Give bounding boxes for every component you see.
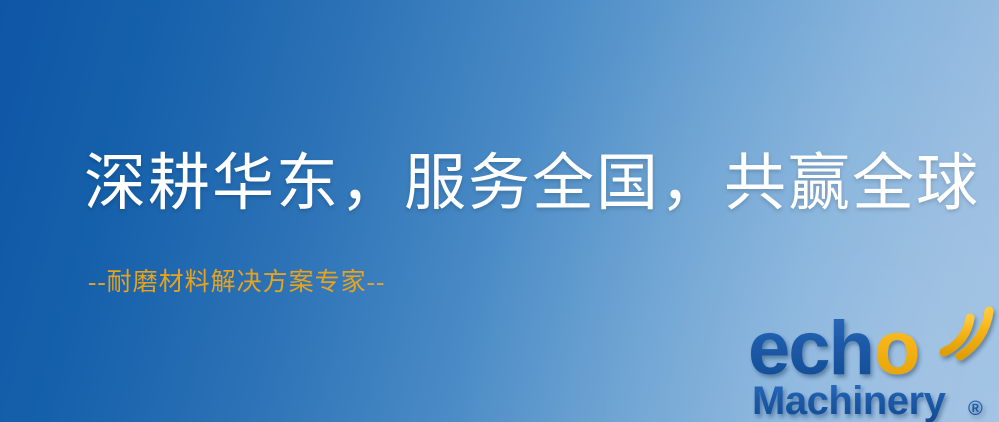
sound-wave-icon [944,311,989,356]
banner-subtitle: --耐磨材料解决方案专家-- [88,268,385,298]
hero-banner: 深耕华东，服务全国，共赢全球 --耐磨材料解决方案专家-- [0,0,999,422]
banner-headline: 深耕华东，服务全国，共赢全球 [84,152,980,217]
logo-wordmark-machinery: Machinery ® [752,379,983,422]
svg-text:Machinery: Machinery [752,379,947,422]
svg-text:®: ® [968,398,983,420]
echo-machinery-logo: ech o Machinery ® [748,300,999,422]
